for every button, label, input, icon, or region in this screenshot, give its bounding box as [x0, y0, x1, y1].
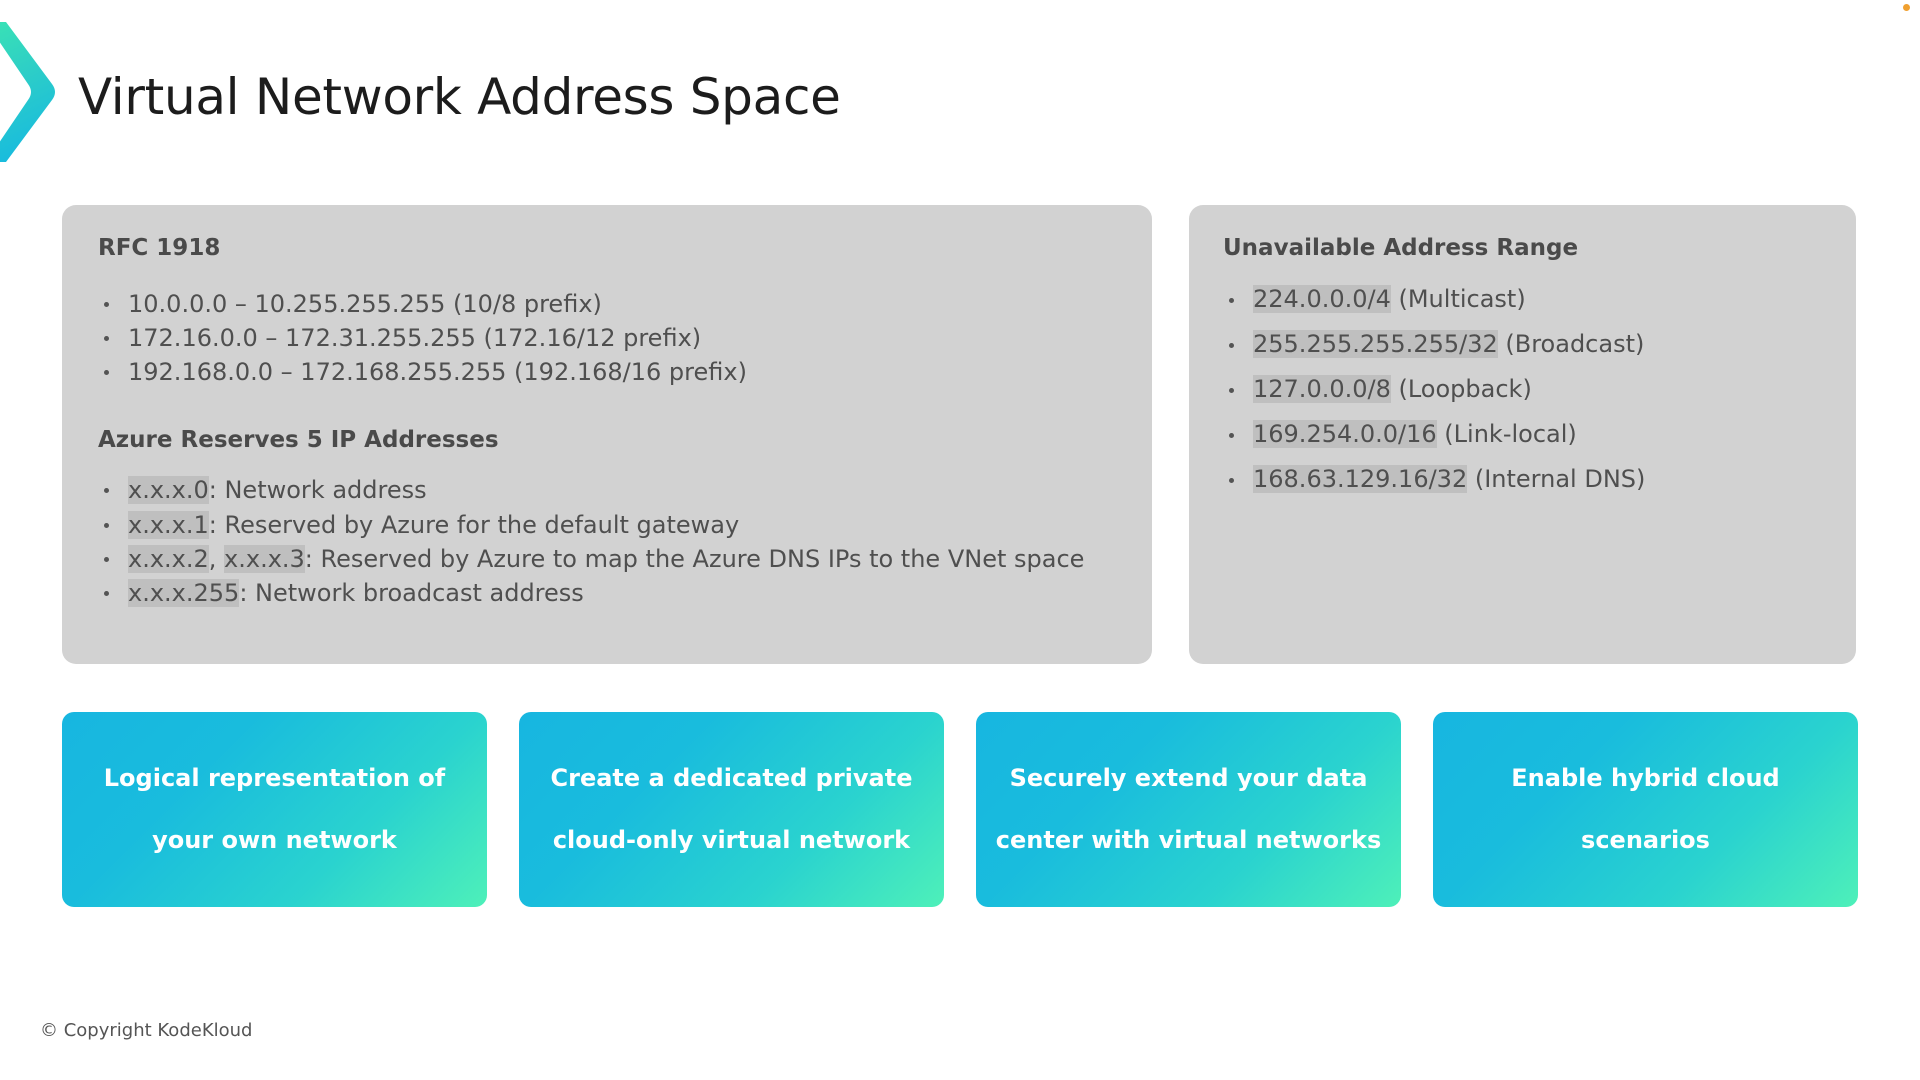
list-item-text: (Internal DNS)	[1467, 465, 1645, 493]
card-line-2: scenarios	[1511, 825, 1779, 856]
list-item-text: : Network broadcast address	[239, 579, 583, 607]
list-item: 224.0.0.0/4 (Multicast)	[1215, 285, 1830, 313]
unavailable-range-panel: Unavailable Address Range 224.0.0.0/4 (M…	[1189, 205, 1856, 664]
list-item-text: : Reserved by Azure to map the Azure DNS…	[305, 545, 1085, 573]
card-line-2: your own network	[104, 825, 445, 856]
list-item: 169.254.0.0/16 (Link-local)	[1215, 420, 1830, 448]
ip-token: 169.254.0.0/16	[1253, 420, 1437, 448]
list-item: x.x.x.1: Reserved by Azure for the defau…	[90, 511, 1124, 539]
list-item: x.x.x.2, x.x.x.3: Reserved by Azure to m…	[90, 545, 1124, 573]
list-item: x.x.x.255: Network broadcast address	[90, 579, 1124, 607]
list-item-text: (Loopback)	[1391, 375, 1532, 403]
unavailable-range-heading: Unavailable Address Range	[1223, 231, 1830, 263]
ip-token-separator: ,	[209, 545, 224, 573]
ip-token: x.x.x.2	[128, 545, 209, 573]
rfc-range-list: 10.0.0.0 – 10.255.255.255 (10/8 prefix) …	[90, 290, 1124, 386]
card-line-2: cloud-only virtual network	[551, 825, 913, 856]
ip-token: x.x.x.0	[128, 476, 209, 504]
copyright-footer: © Copyright KodeKloud	[40, 1020, 252, 1041]
list-item: 192.168.0.0 – 172.168.255.255 (192.168/1…	[90, 358, 1124, 386]
list-item: 168.63.129.16/32 (Internal DNS)	[1215, 465, 1830, 493]
rfc-panel: RFC 1918 10.0.0.0 – 10.255.255.255 (10/8…	[62, 205, 1152, 664]
rfc-panel-heading: RFC 1918	[98, 231, 1124, 263]
card-line-1: Enable hybrid cloud	[1511, 763, 1779, 794]
feature-card-logical-representation[interactable]: Logical representation ofyour own networ…	[62, 712, 487, 907]
list-item-text: : Network address	[209, 476, 427, 504]
ip-token: 224.0.0.0/4	[1253, 285, 1391, 313]
ip-token: x.x.x.1	[128, 511, 209, 539]
feature-card-securely-extend-datacenter[interactable]: Securely extend your datacenter with vir…	[976, 712, 1401, 907]
feature-card-row: Logical representation ofyour own networ…	[62, 712, 1858, 907]
list-item: x.x.x.0: Network address	[90, 476, 1124, 504]
corner-dot-icon	[1903, 4, 1910, 11]
ip-token: 168.63.129.16/32	[1253, 465, 1467, 493]
ip-token: 127.0.0.0/8	[1253, 375, 1391, 403]
card-line-1: Securely extend your data	[996, 763, 1381, 794]
unavailable-range-list: 224.0.0.0/4 (Multicast) 255.255.255.255/…	[1215, 285, 1830, 493]
list-item-text: : Reserved by Azure for the default gate…	[209, 511, 739, 539]
list-item: 10.0.0.0 – 10.255.255.255 (10/8 prefix)	[90, 290, 1124, 318]
list-item-text: (Broadcast)	[1498, 330, 1645, 358]
azure-reserved-heading: Azure Reserves 5 IP Addresses	[98, 423, 1124, 455]
card-line-1: Create a dedicated private	[551, 763, 913, 794]
slide-canvas: Virtual Network Address Space RFC 1918 1…	[0, 0, 1920, 1080]
ip-token: x.x.x.255	[128, 579, 239, 607]
list-item: 172.16.0.0 – 172.31.255.255 (172.16/12 p…	[90, 324, 1124, 352]
list-item: 127.0.0.0/8 (Loopback)	[1215, 375, 1830, 403]
list-item-text: (Link-local)	[1437, 420, 1577, 448]
card-line-2: center with virtual networks	[996, 825, 1381, 856]
list-item: 255.255.255.255/32 (Broadcast)	[1215, 330, 1830, 358]
list-item-text: (Multicast)	[1391, 285, 1526, 313]
page-title: Virtual Network Address Space	[78, 68, 841, 126]
azure-reserved-list: x.x.x.0: Network address x.x.x.1: Reserv…	[90, 476, 1124, 606]
feature-card-hybrid-cloud[interactable]: Enable hybrid cloudscenarios	[1433, 712, 1858, 907]
brand-chevron-logo	[0, 22, 60, 162]
feature-card-dedicated-private-cloud[interactable]: Create a dedicated privatecloud-only vir…	[519, 712, 944, 907]
card-line-1: Logical representation of	[104, 763, 445, 794]
ip-token: 255.255.255.255/32	[1253, 330, 1498, 358]
ip-token: x.x.x.3	[224, 545, 305, 573]
